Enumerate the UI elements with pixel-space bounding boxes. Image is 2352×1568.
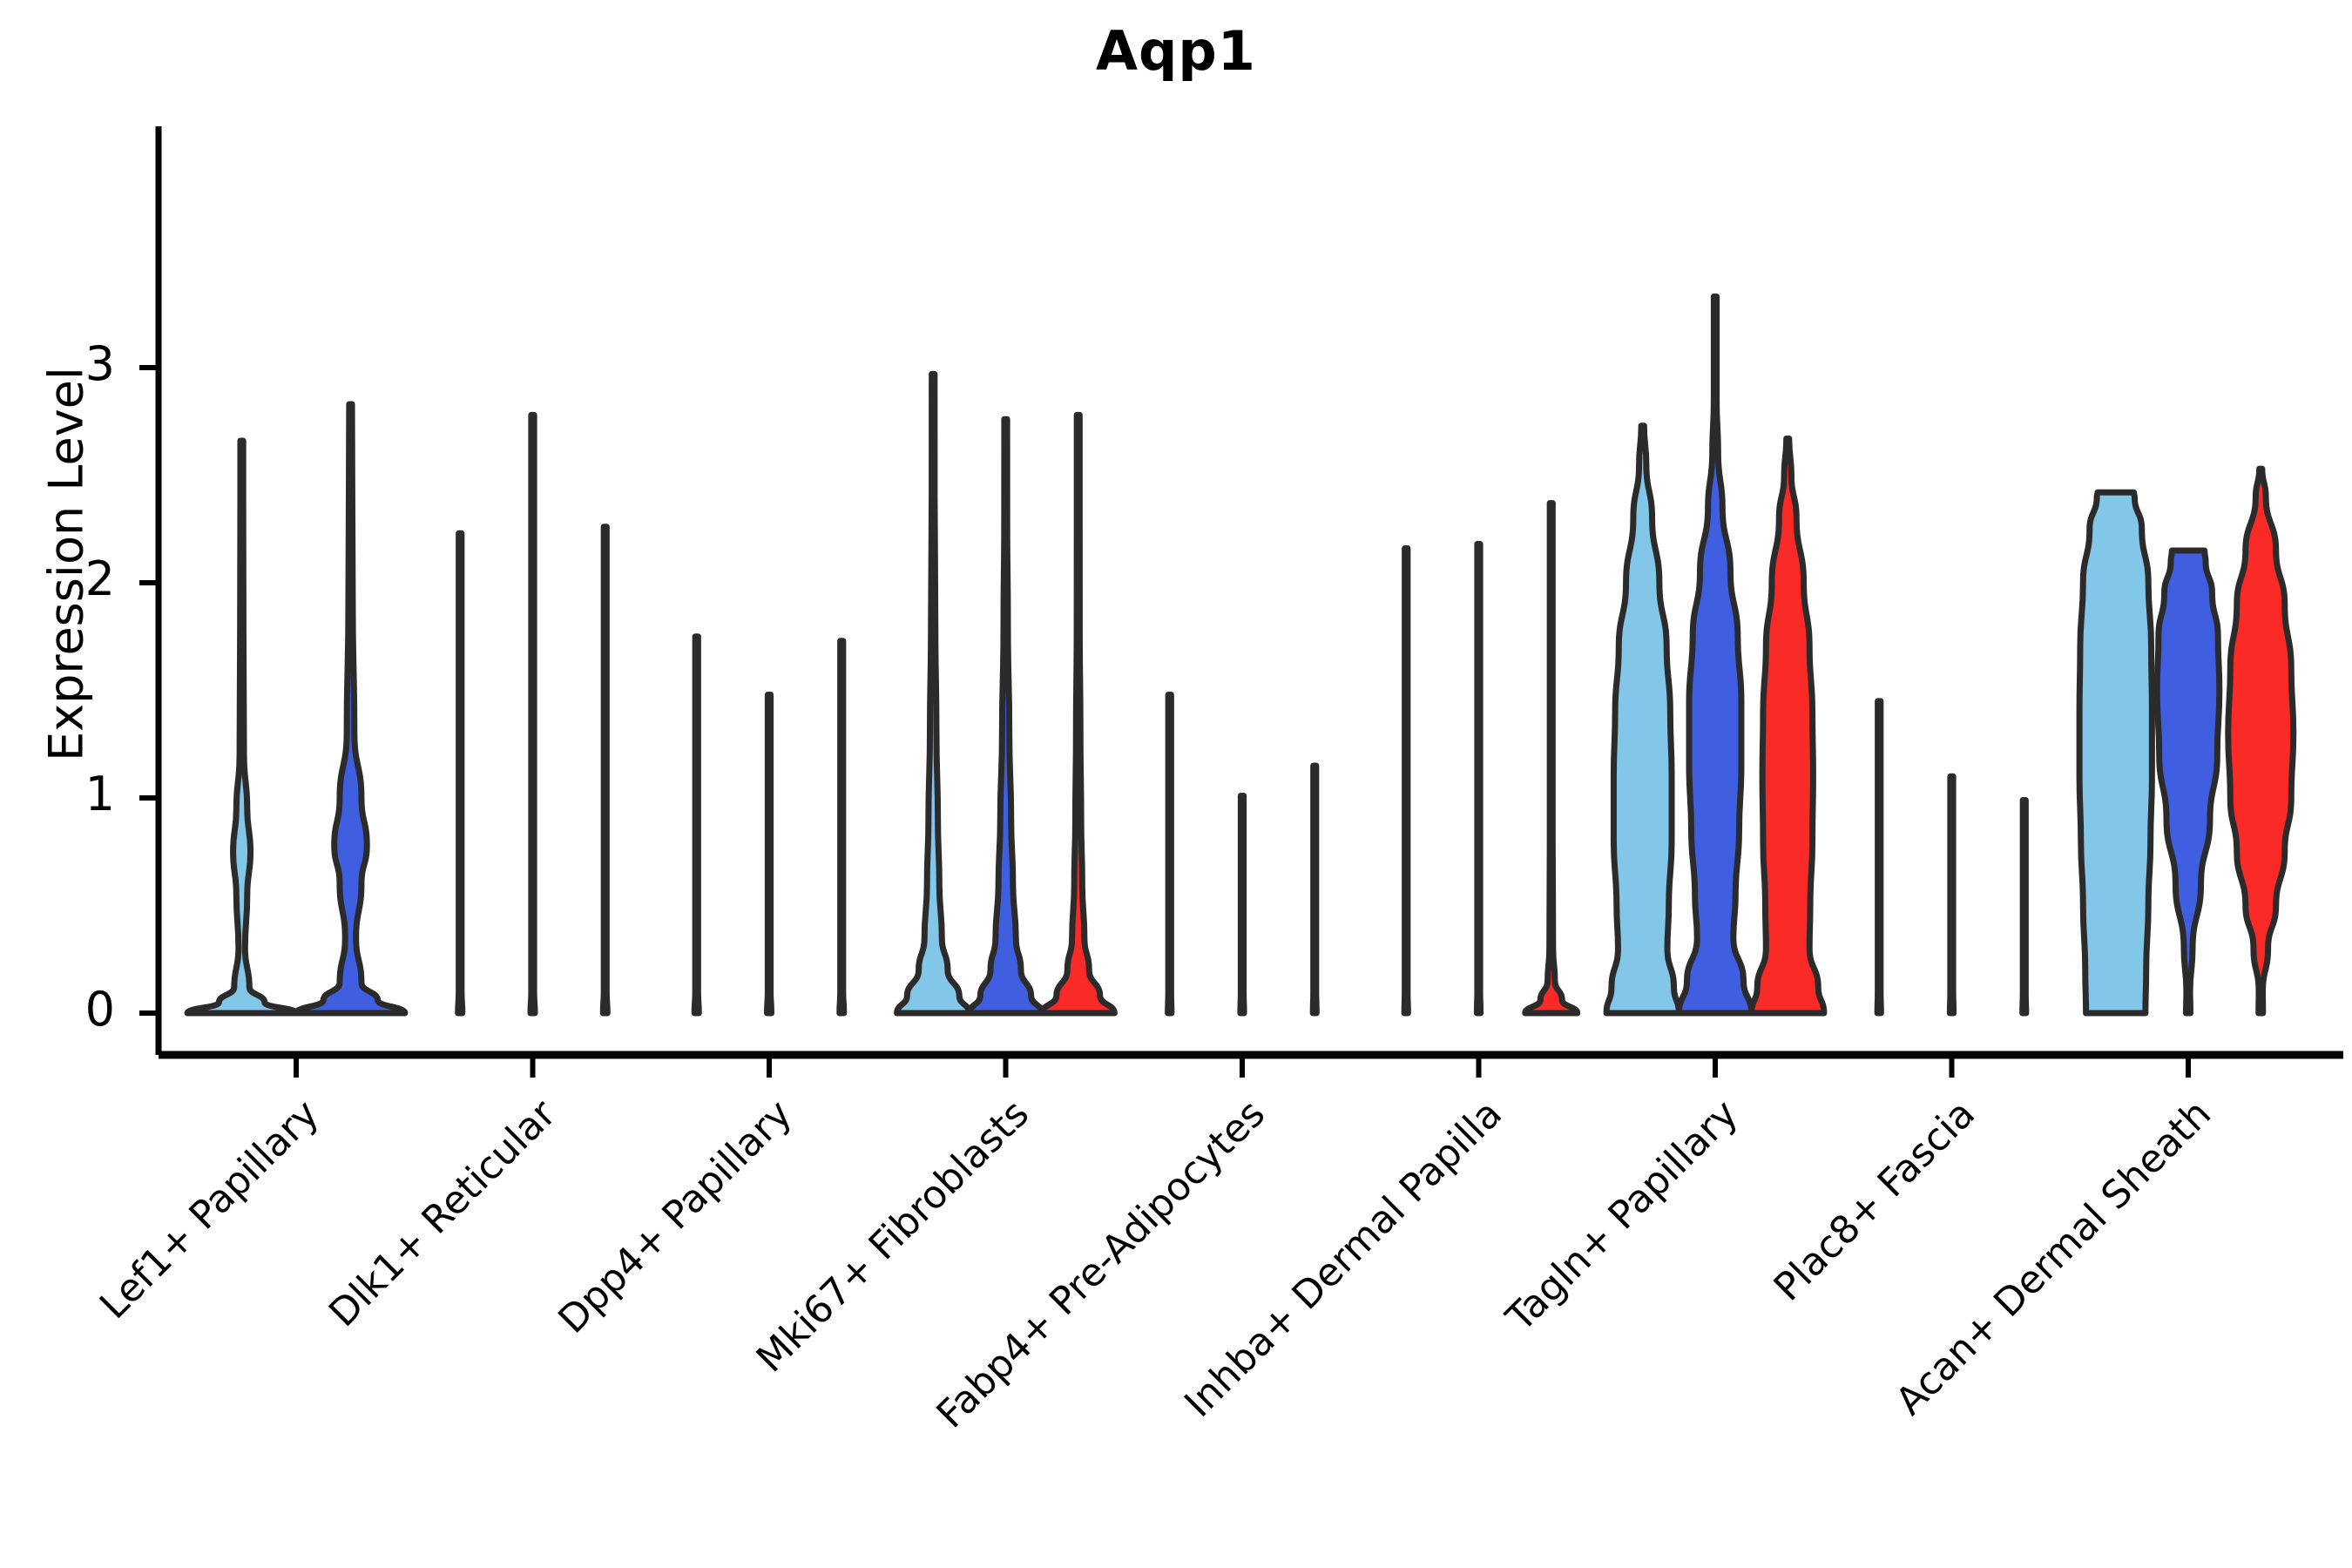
- violin-light_blue: [1404, 548, 1408, 1013]
- violins-layer: [187, 296, 2294, 1013]
- violin-blue: [767, 694, 772, 1013]
- violin-red: [1313, 766, 1316, 1013]
- violin-red: [840, 641, 844, 1013]
- violin-blue: [970, 419, 1042, 1013]
- violin-red: [603, 527, 607, 1013]
- violin-blue: [1679, 296, 1751, 1013]
- violin-red: [1042, 415, 1114, 1013]
- violin-blue: [2157, 551, 2220, 1013]
- violin-plot-figure: Aqp1 Expression Level 0123 Lef1+ Papilla…: [0, 0, 2352, 1568]
- violin-light_blue: [458, 533, 463, 1013]
- violin-light_blue: [2079, 492, 2152, 1013]
- violin-light_blue: [1877, 701, 1881, 1013]
- violin-blue: [1950, 776, 1953, 1013]
- violin-red: [2023, 800, 2026, 1013]
- violin-light_blue: [1168, 694, 1172, 1013]
- violin-blue: [296, 404, 405, 1013]
- violin-light_blue: [897, 374, 970, 1013]
- violin-blue: [1240, 796, 1244, 1013]
- violin-red: [1525, 504, 1578, 1013]
- y-tick-label: 0: [19, 982, 115, 1037]
- y-tick-label: 3: [19, 336, 115, 391]
- violin-blue: [1477, 544, 1480, 1013]
- violin-light_blue: [187, 441, 296, 1013]
- y-tick-label: 2: [19, 551, 115, 606]
- violin-light_blue: [694, 637, 699, 1013]
- violin-light_blue: [1606, 426, 1679, 1013]
- violin-red: [2228, 469, 2294, 1013]
- violin-red: [1752, 439, 1824, 1013]
- y-tick-label: 1: [19, 767, 115, 821]
- violin-blue: [531, 415, 535, 1013]
